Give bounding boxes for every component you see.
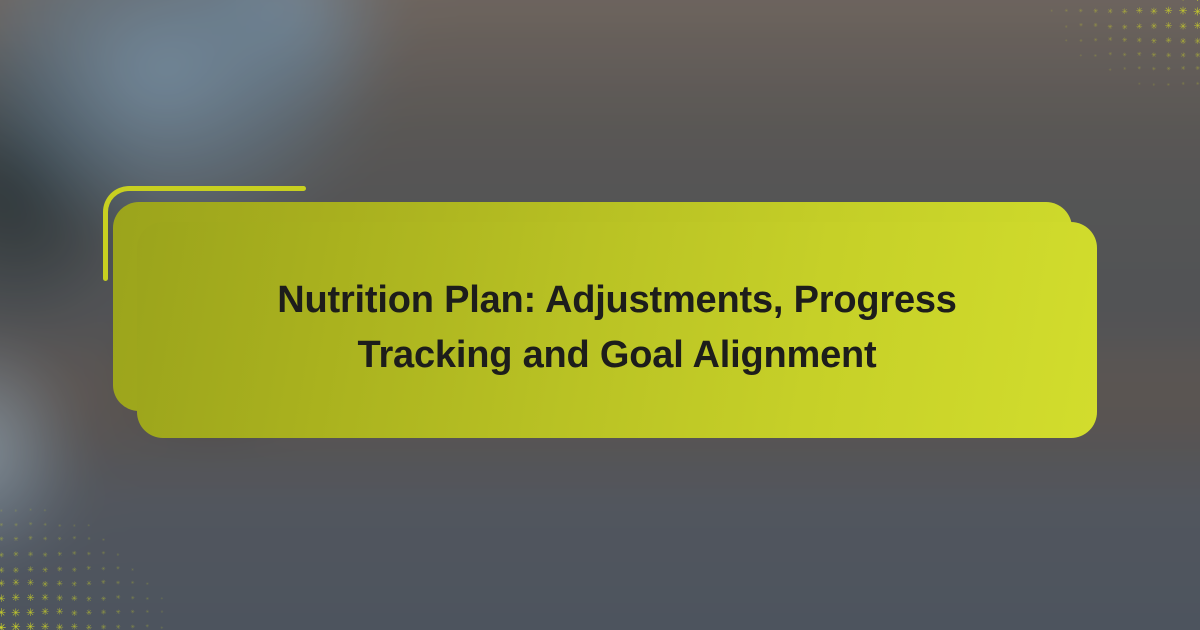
title-card-front: Nutrition Plan: Adjustments, Progress Tr…	[137, 222, 1097, 438]
page-title: Nutrition Plan: Adjustments, Progress Tr…	[137, 273, 1097, 383]
banner: ✳✳✳✳✳✳✳✳✳✳✳✳✳✳✳✳✳✳✳✳✳✳✳✳✳✳✳✳✳✳✳✳✳✳✳✳✳✳✳✳…	[0, 0, 1200, 630]
